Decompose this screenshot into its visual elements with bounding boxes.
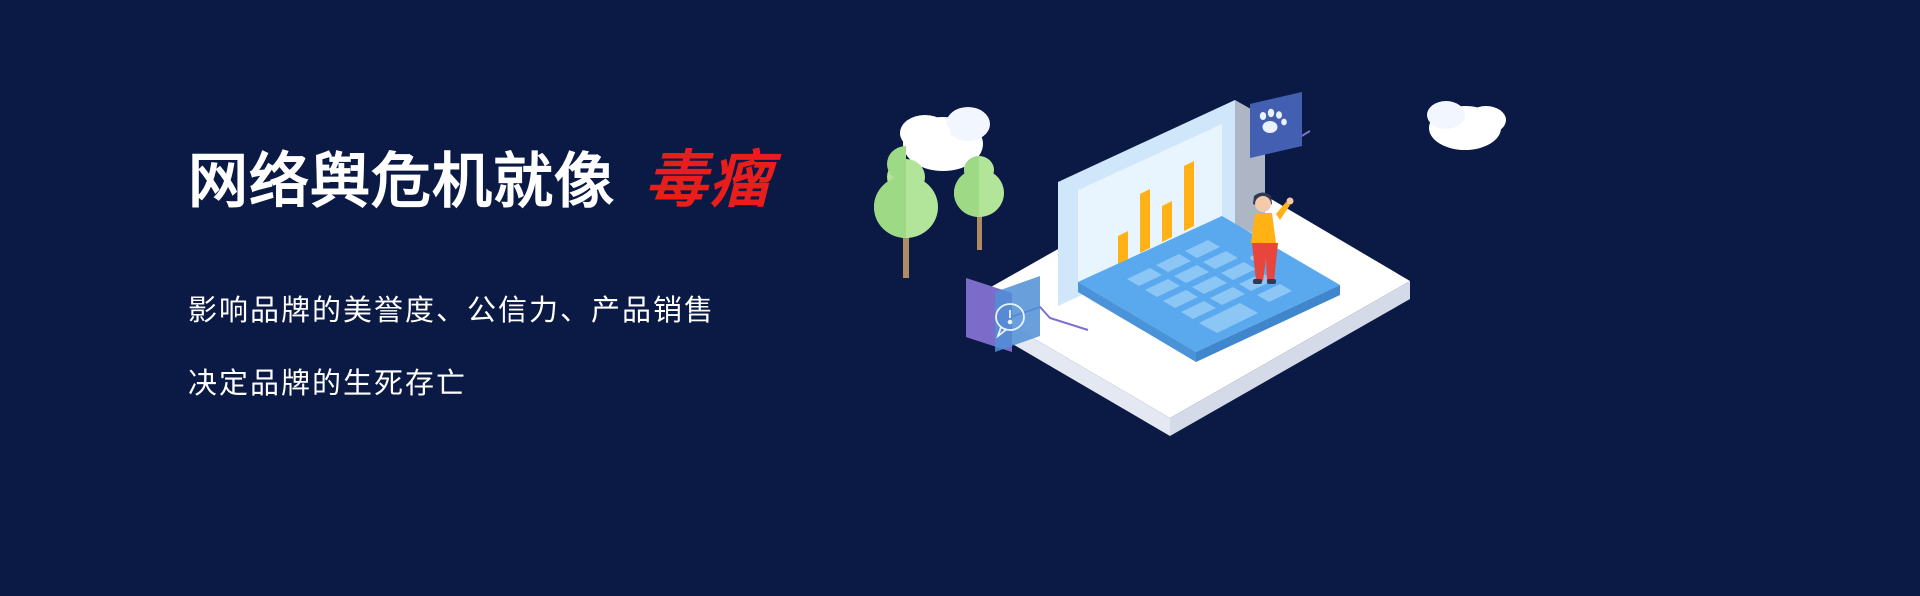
hero-illustration [840, 0, 1540, 596]
chart-bar-3 [1162, 201, 1172, 242]
person-shoe-right [1267, 279, 1276, 284]
hero-text-block: 网络舆危机就像 毒瘤 影响品牌的美誉度、公信力、产品销售 决定品牌的生死存亡 [188, 140, 908, 428]
hero-banner: 网络舆危机就像 毒瘤 影响品牌的美誉度、公信力、产品销售 决定品牌的生死存亡 [0, 0, 1920, 596]
headline-accent: 毒瘤 [645, 150, 773, 212]
person-hand [1287, 198, 1294, 205]
tree-small-icon [954, 156, 1004, 250]
person-head [1255, 196, 1271, 212]
person-top [1251, 213, 1276, 243]
chart-bar-4 [1184, 161, 1194, 231]
isometric-scene-svg [840, 0, 1540, 596]
paw-card[interactable] [1250, 92, 1302, 158]
subtitle-line-1: 影响品牌的美誉度、公信力、产品销售 [188, 297, 908, 326]
subtitle-line-2: 决定品牌的生死存亡 [188, 370, 908, 399]
headline-primary: 网络舆危机就像 [188, 152, 615, 212]
chart-bar-1 [1118, 231, 1128, 264]
page-title: 网络舆危机就像 毒瘤 [188, 140, 908, 212]
chart-bar-2 [1140, 189, 1150, 253]
person-shoe-left [1253, 279, 1262, 284]
cloud-small-icon [1427, 101, 1506, 150]
